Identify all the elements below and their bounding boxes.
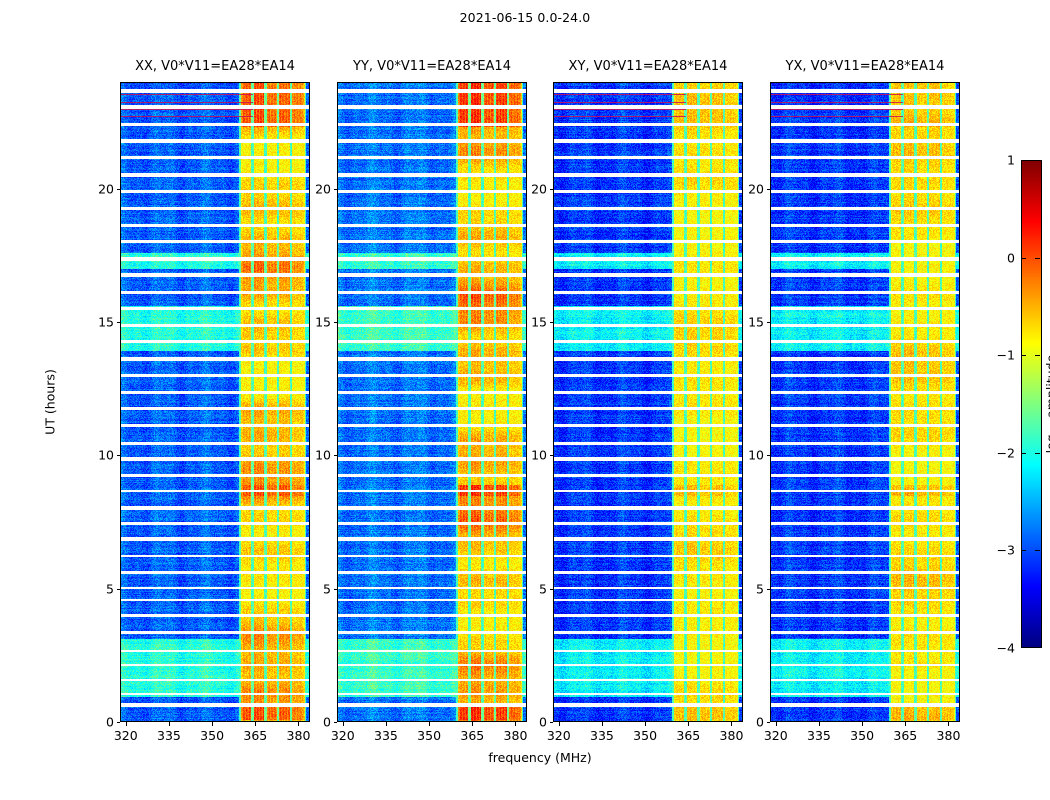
figure-title: 2021-06-15 0.0-24.0 [0,10,1050,25]
spectrogram-panel-xx[interactable]: XX, V0*V11=EA28*EA1405101520320335350365… [120,82,310,722]
x-tick-label: 380 [937,728,961,743]
y-tick-mark [550,589,554,590]
y-tick-label: 15 [531,315,547,330]
y-tick-label: 20 [531,181,547,196]
colorbar-tick-mark [1021,258,1026,259]
x-tick-label: 365 [893,728,917,743]
y-tick-mark [117,589,121,590]
colorbar: 10−1−2−3−4 [1021,160,1042,648]
x-tick-label: 365 [243,728,267,743]
x-tick-mark [343,722,344,726]
spectrogram-image-xx [120,82,310,722]
spectrogram-image-xy [553,82,743,722]
x-tick-mark [645,722,646,726]
y-tick-label: 20 [98,181,114,196]
x-tick-label: 335 [157,728,181,743]
x-tick-label: 380 [504,728,528,743]
colorbar-tick-mark [1021,550,1026,551]
spectrogram-panel-yy[interactable]: YY, V0*V11=EA28*EA1405101520320335350365… [337,82,527,722]
x-tick-mark [559,722,560,726]
figure-root: 2021-06-15 0.0-24.0 XX, V0*V11=EA28*EA14… [0,0,1050,800]
x-tick-label: 335 [590,728,614,743]
x-tick-label: 365 [676,728,700,743]
y-tick-label: 5 [539,581,547,596]
x-tick-mark [386,722,387,726]
colorbar-label-tail: amplitude [1043,355,1050,422]
y-tick-label: 15 [315,315,331,330]
y-tick-mark [334,589,338,590]
y-axis-label: UT (hours) [43,362,58,442]
y-tick-mark [550,455,554,456]
colorbar-tick-label: −1 [997,348,1015,363]
x-tick-label: 320 [547,728,571,743]
panel-title-xx: XX, V0*V11=EA28*EA14 [120,59,310,74]
colorbar-tick-mark [1021,355,1026,356]
colorbar-tick-mark [1021,453,1026,454]
colorbar-tick-mark [1035,355,1040,356]
y-tick-mark [117,189,121,190]
x-tick-label: 335 [807,728,831,743]
y-tick-label: 0 [539,715,547,730]
colorbar-tick-mark [1035,550,1040,551]
x-tick-label: 320 [331,728,355,743]
colorbar-tick-label: 1 [1007,153,1015,168]
x-tick-label: 380 [287,728,311,743]
x-tick-label: 350 [850,728,874,743]
x-axis-label: frequency (MHz) [120,750,960,765]
y-tick-mark [334,455,338,456]
y-tick-label: 0 [323,715,331,730]
spectrogram-panel-xy[interactable]: XY, V0*V11=EA28*EA1405101520320335350365… [553,82,743,722]
y-tick-label: 15 [748,315,764,330]
x-tick-label: 365 [460,728,484,743]
y-tick-label: 0 [106,715,114,730]
x-tick-mark [298,722,299,726]
x-tick-mark [602,722,603,726]
y-tick-mark [767,455,771,456]
panel-title-yy: YY, V0*V11=EA28*EA14 [337,59,527,74]
x-tick-mark [731,722,732,726]
x-tick-mark [472,722,473,726]
x-tick-mark [776,722,777,726]
colorbar-label: log10 amplitude [1043,344,1050,464]
y-tick-label: 10 [98,448,114,463]
x-tick-label: 350 [200,728,224,743]
y-tick-mark [117,322,121,323]
x-tick-mark [169,722,170,726]
x-tick-mark [212,722,213,726]
y-tick-label: 5 [106,581,114,596]
colorbar-tick-label: −3 [997,543,1015,558]
x-tick-mark [819,722,820,726]
x-tick-label: 380 [720,728,744,743]
panel-title-yx: YX, V0*V11=EA28*EA14 [770,59,960,74]
y-tick-mark [550,322,554,323]
y-tick-label: 15 [98,315,114,330]
spectrogram-image-yx [770,82,960,722]
x-tick-mark [255,722,256,726]
y-tick-mark [334,722,338,723]
x-tick-label: 335 [374,728,398,743]
colorbar-tick-mark [1035,453,1040,454]
y-tick-mark [767,722,771,723]
y-tick-label: 10 [748,448,764,463]
y-tick-mark [767,189,771,190]
x-tick-mark [688,722,689,726]
colorbar-tick-label: −4 [997,641,1015,656]
y-tick-mark [117,455,121,456]
y-tick-mark [550,722,554,723]
x-tick-label: 350 [633,728,657,743]
y-tick-label: 20 [315,181,331,196]
x-tick-label: 350 [417,728,441,743]
colorbar-gradient [1021,160,1042,648]
spectrogram-image-yy [337,82,527,722]
y-tick-label: 20 [748,181,764,196]
y-tick-label: 5 [756,581,764,596]
y-tick-mark [550,189,554,190]
y-tick-label: 0 [756,715,764,730]
x-tick-mark [905,722,906,726]
y-tick-label: 10 [315,448,331,463]
colorbar-tick-label: 0 [1007,250,1015,265]
y-tick-label: 10 [531,448,547,463]
x-tick-mark [862,722,863,726]
colorbar-tick-label: −2 [997,445,1015,460]
y-tick-mark [334,322,338,323]
colorbar-label-base: log [1043,434,1050,453]
colorbar-tick-mark [1035,258,1040,259]
x-tick-mark [429,722,430,726]
y-tick-mark [117,722,121,723]
y-tick-mark [334,189,338,190]
panel-title-xy: XY, V0*V11=EA28*EA14 [553,59,743,74]
x-tick-mark [126,722,127,726]
x-tick-mark [948,722,949,726]
y-tick-mark [767,589,771,590]
y-tick-label: 5 [323,581,331,596]
x-tick-label: 320 [764,728,788,743]
spectrogram-panel-yx[interactable]: YX, V0*V11=EA28*EA1405101520320335350365… [770,82,960,722]
x-tick-mark [515,722,516,726]
y-tick-mark [767,322,771,323]
x-tick-label: 320 [114,728,138,743]
